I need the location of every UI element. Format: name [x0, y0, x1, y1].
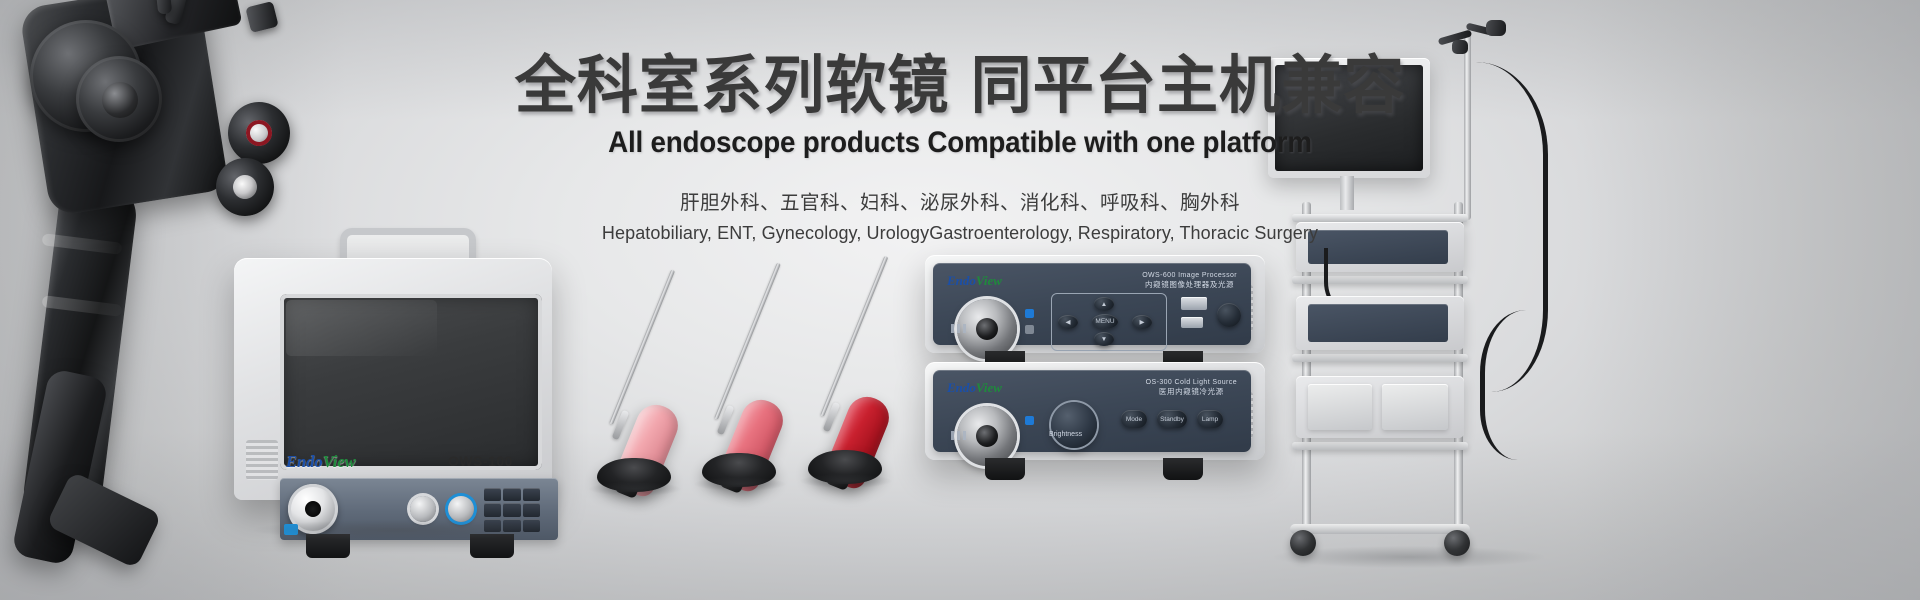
lightsource-brand-logo: EndoView	[947, 381, 1002, 394]
cart-base-bar	[1290, 524, 1470, 534]
workstation-knob-left[interactable]	[410, 496, 436, 522]
headline-part-2: 同平台主机兼容	[971, 49, 1406, 122]
cart-shelf	[1292, 442, 1468, 450]
headline-part-1: 全科室系列软镜	[515, 49, 950, 122]
workstation-model-label: OWS-100	[448, 454, 513, 468]
processor-brand-logo: EndoView	[947, 274, 1002, 287]
processor-status-led	[1025, 309, 1034, 318]
lightsource-title-block: OS-300 Cold Light Source 医用内窥镜冷光源	[1146, 379, 1237, 396]
rigid-endoscope-red	[716, 236, 886, 481]
processor-button-left[interactable]: ◀	[1058, 315, 1078, 329]
processor-title-en: OWS-600 Image Processor	[1142, 272, 1237, 279]
endoview-image-processor: EndoView OWS-600 Image Processor 内窥镜图像处理…	[925, 255, 1265, 353]
departments-block: 肝胆外科、五官科、妇科、泌尿外科、消化科、呼吸科、胸外科 Hepatobilia…	[0, 189, 1920, 246]
page-subtitle: All endoscope products Compatible with o…	[58, 128, 1863, 159]
processor-power-led	[1025, 325, 1034, 334]
workstation-chassis: EndoView OWS-100	[234, 258, 552, 500]
cart-unit-bottom-left	[1308, 384, 1372, 430]
processor-front-panel: EndoView OWS-600 Image Processor 内窥镜图像处理…	[933, 263, 1251, 345]
processor-usb-port[interactable]	[1181, 297, 1207, 310]
lightsource-front-panel: EndoView OS-300 Cold Light Source 医用内窥镜冷…	[933, 370, 1251, 452]
processor-button-pad: ▲ ◀ MENU ▶ ▼	[1051, 293, 1167, 351]
processor-title-block: OWS-600 Image Processor 内窥镜图像处理器及光源	[1142, 272, 1237, 289]
endoview-cold-light-source: EndoView OS-300 Cold Light Source 医用内窥镜冷…	[925, 362, 1265, 460]
cart-unit-bottom-right	[1382, 384, 1448, 430]
cart-shelf	[1292, 354, 1468, 362]
lightsource-foot	[1163, 458, 1203, 480]
lightsource-button-standby[interactable]: Standby	[1157, 410, 1187, 428]
lightsource-status-led	[1025, 416, 1034, 425]
banner-stage: EndoView OWS-100	[0, 0, 1920, 600]
lightsource-title-cn: 医用内窥镜冷光源	[1146, 388, 1237, 396]
lightsource-foot	[985, 458, 1025, 480]
processor-power-button[interactable]	[1217, 303, 1241, 327]
departments-en: Hepatobiliary, ENT, Gynecology, UrologyG…	[0, 221, 1920, 246]
cart-unit-middle	[1308, 304, 1448, 342]
processor-hdmi-port[interactable]	[1181, 317, 1203, 328]
processor-button-down[interactable]: ▼	[1094, 332, 1114, 346]
page-title: 全科室系列软镜同平台主机兼容	[29, 54, 1891, 117]
endoview-ows100-workstation: EndoView OWS-100	[228, 228, 558, 568]
departments-cn: 肝胆外科、五官科、妇科、泌尿外科、消化科、呼吸科、胸外科	[0, 189, 1920, 217]
rigid-scope-shaft	[820, 256, 888, 417]
processor-waveform-icon	[949, 324, 973, 333]
workstation-display-screen	[280, 294, 542, 470]
banner-text-block: 全科室系列软镜同平台主机兼容 All endoscope products Co…	[0, 54, 1920, 246]
rigid-scope-shadow	[589, 482, 681, 496]
processor-button-right[interactable]: ▶	[1132, 315, 1152, 329]
processor-title-cn: 内窥镜图像处理器及光源	[1142, 281, 1237, 289]
cart-drop-shadow	[1274, 546, 1544, 568]
rigid-scope-shadow	[800, 474, 892, 488]
processor-button-menu[interactable]: MENU	[1092, 314, 1118, 329]
lightsource-brightness-label: Brightness	[1049, 431, 1082, 438]
workstation-knob-right[interactable]	[448, 496, 474, 522]
workstation-brand-logo: EndoView	[286, 454, 356, 471]
workstation-drop-shadow	[254, 520, 540, 540]
lightsource-title-en: OS-300 Cold Light Source	[1146, 379, 1237, 386]
workstation-vent-grille	[246, 440, 278, 480]
lightsource-button-mode[interactable]: Mode	[1121, 410, 1147, 428]
cart-scope-hanger-arm	[1438, 20, 1512, 54]
processor-button-up[interactable]: ▲	[1094, 297, 1114, 311]
lightsource-waveform-icon	[949, 431, 973, 440]
lightsource-button-lamp[interactable]: Lamp	[1197, 410, 1223, 428]
endoscope-suction-button	[245, 1, 278, 33]
lightsource-brightness-dial[interactable]	[1051, 402, 1097, 448]
